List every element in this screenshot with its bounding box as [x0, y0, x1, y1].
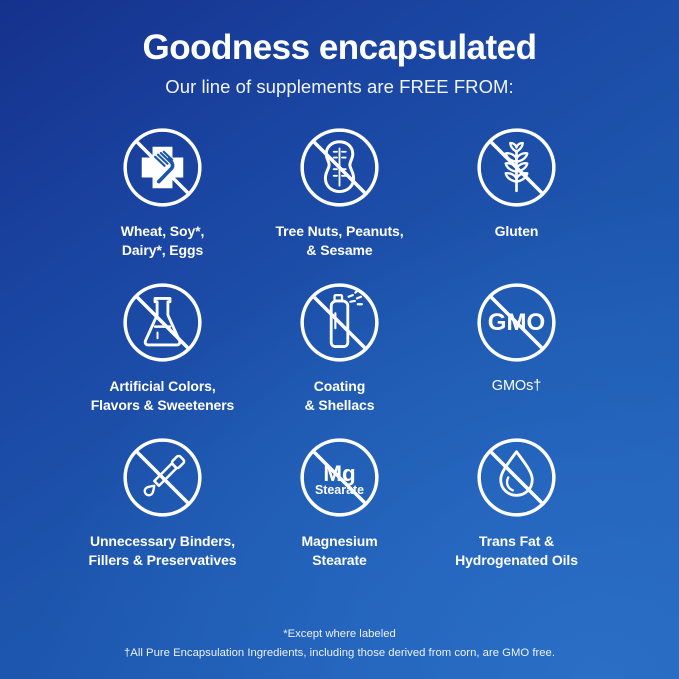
stearate-icon-text: Stearate [315, 483, 364, 497]
page-subtitle: Our line of supplements are FREE FROM: [0, 76, 679, 98]
footnotes: *Except where labeled †All Pure Encapsul… [0, 625, 679, 662]
grid-item-binders: Unnecessary Binders, Fillers & Preservat… [74, 436, 251, 591]
free-from-grid: Wheat, Soy*, Dairy*, Eggs [0, 126, 679, 591]
footnote-dagger: †All Pure Encapsulation Ingredients, inc… [0, 644, 679, 662]
grid-item-nuts: Tree Nuts, Peanuts, & Sesame [251, 126, 428, 281]
grid-item-label: Artificial Colors, Flavors & Sweeteners [91, 377, 235, 414]
grid-item-trans-fat: Trans Fat & Hydrogenated Oils [428, 436, 605, 591]
grid-item-mg-stearate: Mg Stearate Magnesium Stearate [251, 436, 428, 591]
grid-item-label: Coating & Shellacs [305, 377, 375, 414]
grid-item-label: Magnesium Stearate [301, 532, 377, 569]
no-flask-icon [121, 281, 204, 364]
no-peanut-icon [298, 126, 381, 209]
grid-item-label: Unnecessary Binders, Fillers & Preservat… [89, 532, 237, 569]
no-allergen-cross-fork-icon [121, 126, 204, 209]
grid-item-artificial-colors: Artificial Colors, Flavors & Sweeteners [74, 281, 251, 436]
grid-item-gmo: GMO GMOs† [428, 281, 605, 436]
page-title: Goodness encapsulated [0, 28, 679, 67]
no-spray-can-icon [298, 281, 381, 364]
grid-item-label: Trans Fat & Hydrogenated Oils [455, 532, 578, 569]
no-dropper-icon [121, 436, 204, 519]
no-gmo-text-icon: GMO [475, 281, 558, 364]
grid-item-allergens: Wheat, Soy*, Dairy*, Eggs [74, 126, 251, 281]
grid-item-gluten: Gluten [428, 126, 605, 281]
footnote-asterisk: *Except where labeled [0, 625, 679, 643]
no-wheat-stalk-icon [475, 126, 558, 209]
header: Goodness encapsulated Our line of supple… [0, 0, 679, 98]
no-oil-droplet-icon [475, 436, 558, 519]
no-mg-stearate-text-icon: Mg Stearate [298, 436, 381, 519]
grid-item-label: GMOs† [492, 377, 541, 396]
mg-icon-text: Mg [323, 461, 355, 486]
promo-panel: Goodness encapsulated Our line of supple… [0, 0, 679, 679]
grid-item-coating: Coating & Shellacs [251, 281, 428, 436]
grid-item-label: Tree Nuts, Peanuts, & Sesame [275, 222, 403, 259]
grid-item-label: Gluten [495, 222, 539, 240]
grid-item-label: Wheat, Soy*, Dairy*, Eggs [121, 222, 205, 259]
gmo-icon-text: GMO [488, 309, 545, 336]
